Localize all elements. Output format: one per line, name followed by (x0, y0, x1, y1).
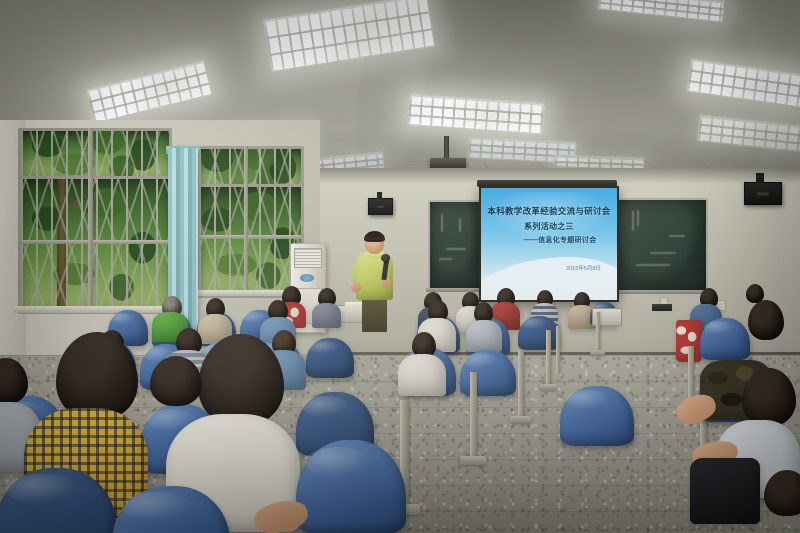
window-grille (199, 149, 301, 185)
window-grille (21, 131, 169, 177)
projection-screen[interactable]: 本科教学改革经验交流与研讨会 系列活动之三 ——信息化专题研讨会 2015年5月… (479, 186, 619, 302)
seat-foot (590, 350, 605, 355)
projector-mount-pole (444, 136, 449, 160)
air-conditioner-badge-icon (300, 274, 314, 282)
presenter (352, 232, 396, 332)
seat-post (518, 350, 524, 418)
seat[interactable] (306, 338, 354, 378)
seat[interactable] (460, 350, 516, 396)
window-upper-left (18, 128, 172, 180)
seat-post (470, 372, 477, 460)
window-grille (199, 187, 301, 295)
slide-title-line-2: 系列活动之三 (481, 221, 617, 232)
window-upper-right (196, 146, 304, 188)
list-item (742, 368, 796, 426)
slide-date: 2015年5月8日 (481, 264, 617, 272)
blackboard-left (428, 200, 484, 292)
seat[interactable] (560, 386, 634, 446)
list-item (150, 356, 202, 406)
list-item (748, 300, 784, 340)
window-lower-left (18, 176, 172, 314)
window-lower-right (196, 184, 304, 298)
air-conditioner-vent (294, 248, 322, 268)
microphone-head-icon (381, 254, 390, 262)
list-item (690, 458, 760, 524)
slide-title-line-1: 本科教学改革经验交流与研讨会 (481, 205, 617, 217)
list-item (312, 303, 341, 328)
list-item (466, 320, 502, 352)
list-item (398, 354, 446, 396)
window-grille (21, 179, 169, 311)
seat-post (556, 326, 560, 374)
speaker-right-icon (744, 182, 782, 205)
presenter-left-hand (351, 283, 361, 292)
seat-foot (460, 456, 486, 465)
window-sill-left (14, 306, 170, 313)
glasses-icon (366, 240, 383, 245)
grille-rail (21, 240, 169, 244)
seat-post (596, 312, 600, 352)
seat[interactable] (518, 316, 560, 350)
seat-foot (540, 384, 557, 390)
seat-foot (510, 416, 531, 423)
speaker-left-icon (368, 198, 393, 215)
speaker-left-bracket (377, 192, 382, 199)
presenter-trousers (362, 296, 387, 332)
chalk-tray-right (614, 290, 706, 294)
slide-surface: 本科教学改革经验交流与研讨会 系列活动之三 ——信息化专题研讨会 2015年5月… (481, 188, 617, 300)
slide-subtitle: ——信息化专题研讨会 (503, 235, 617, 245)
window-mullion-right (244, 146, 248, 292)
lecture-hall-photo: 本科教学改革经验交流与研讨会 系列活动之三 ——信息化专题研讨会 2015年5月… (0, 0, 800, 533)
blackboard-right (616, 198, 708, 294)
speaker-right-bracket (756, 173, 764, 183)
window-mullion-vertical (88, 128, 93, 308)
grille-rail (199, 235, 301, 239)
seat[interactable] (700, 318, 750, 360)
laptop[interactable] (652, 304, 672, 311)
seat-post (546, 330, 551, 386)
